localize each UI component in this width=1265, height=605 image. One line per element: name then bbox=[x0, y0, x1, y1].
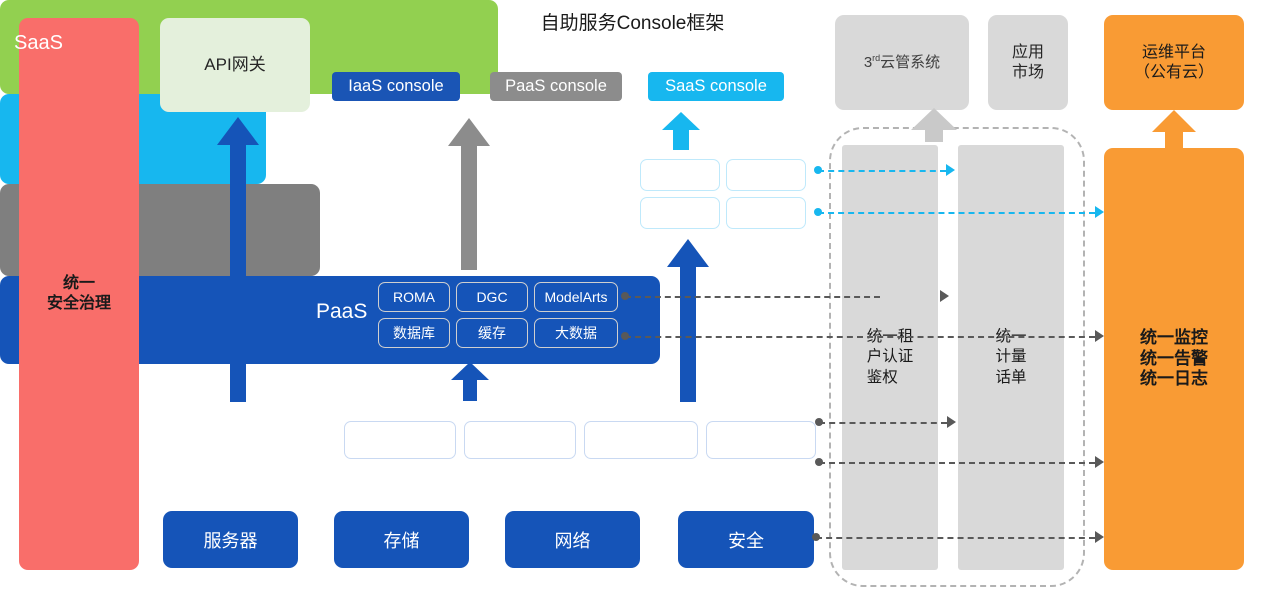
app-market-label: 应用 市场 bbox=[1012, 43, 1044, 82]
saas-service-iot-label: IoT bbox=[755, 166, 777, 184]
arrow-ops-column-to-platform bbox=[1152, 110, 1196, 149]
paas-service-roma[interactable]: ROMA bbox=[378, 282, 450, 312]
paas-service-modelarts-label: ModelArts bbox=[544, 289, 607, 305]
dashed-resources-to-ops bbox=[816, 537, 1095, 539]
arrowhead-paas-to-auth bbox=[940, 290, 949, 302]
paas-service-dgc-label: DGC bbox=[476, 289, 507, 305]
ops-platform-box: 运维平台 （公有云） bbox=[1104, 15, 1244, 110]
arrow-saas-to-console bbox=[662, 112, 700, 150]
resource-server-label: 服务器 bbox=[204, 527, 258, 553]
resource-box-network[interactable]: 网络 bbox=[505, 511, 640, 568]
ops-monitoring-column: 统一监控 统一告警 统一日志 bbox=[1104, 148, 1244, 570]
saas-service-desktop-cloud[interactable]: 桌面云 bbox=[726, 197, 806, 229]
iaas-service-network[interactable]: Network bbox=[584, 421, 698, 459]
paas-service-roma-label: ROMA bbox=[393, 289, 435, 305]
paas-console-label: PaaS console bbox=[505, 77, 607, 96]
arrowhead-paas-to-ops bbox=[1095, 330, 1104, 342]
unified-tenant-auth-column: 统一租 户认证 鉴权 bbox=[842, 145, 938, 570]
iaas-service-cce-label: CCE bbox=[742, 430, 780, 451]
saas-service-video-cloud[interactable]: 视频云 bbox=[640, 197, 720, 229]
saas-console-pill[interactable]: SaaS console bbox=[648, 72, 784, 101]
iaas-service-compute-label: Compute bbox=[363, 430, 436, 451]
dashed-saas-to-auth bbox=[818, 170, 946, 172]
resource-box-security[interactable]: 安全 bbox=[678, 511, 814, 568]
iaas-service-storage[interactable]: Storage bbox=[464, 421, 576, 459]
security-governance-column: 统一 安全治理 bbox=[19, 18, 139, 570]
arrowhead-saas-to-auth bbox=[946, 164, 955, 176]
saas-service-video-cloud-label: 视频云 bbox=[657, 202, 704, 224]
iaas-service-network-label: Network bbox=[608, 430, 674, 451]
security-governance-label: 统一 安全治理 bbox=[47, 274, 111, 313]
paas-console-pill[interactable]: PaaS console bbox=[490, 72, 622, 101]
arrow-iaas-to-saas bbox=[667, 239, 709, 402]
saas-service-iot[interactable]: IoT bbox=[726, 159, 806, 191]
resource-storage-label: 存储 bbox=[384, 527, 420, 553]
architecture-diagram: 统一 安全治理 API网关 自助服务Console框架 IaaS console… bbox=[0, 0, 1265, 605]
paas-service-bigdata-label: 大数据 bbox=[555, 323, 597, 343]
paas-service-modelarts[interactable]: ModelArts bbox=[534, 282, 618, 312]
saas-service-desktop-cloud-label: 桌面云 bbox=[743, 202, 790, 224]
saas-service-blockchain-label: 区块链 bbox=[657, 164, 704, 186]
paas-service-database-label: 数据库 bbox=[393, 323, 435, 343]
resource-network-label: 网络 bbox=[555, 527, 591, 553]
third-party-cloud-mgmt-label: 3rd云管系统 bbox=[864, 53, 940, 72]
iaas-service-storage-label: Storage bbox=[488, 430, 551, 451]
dashed-iaas-to-ops bbox=[819, 462, 1095, 464]
iaas-service-compute[interactable]: Compute bbox=[344, 421, 456, 459]
paas-service-bigdata[interactable]: 大数据 bbox=[534, 318, 618, 348]
ops-monitoring-label: 统一监控 统一告警 统一日志 bbox=[1140, 328, 1208, 390]
ops-platform-label: 运维平台 （公有云） bbox=[1134, 43, 1214, 82]
arrow-iaas-to-paas bbox=[451, 362, 489, 401]
arrowhead-iaas-to-auth bbox=[947, 416, 956, 428]
dashed-paas-to-auth bbox=[625, 296, 880, 298]
arrowhead-saas-to-ops bbox=[1095, 206, 1104, 218]
paas-service-cache-label: 缓存 bbox=[478, 323, 506, 343]
console-framework-title: 自助服务Console框架 bbox=[0, 8, 1265, 35]
paas-service-dgc[interactable]: DGC bbox=[456, 282, 528, 312]
saas-layer-title: SaaS bbox=[14, 32, 63, 55]
unified-infrastructure-title: 统一基础设施服务 bbox=[172, 427, 324, 454]
iaas-service-cce[interactable]: CCE bbox=[706, 421, 816, 459]
api-gateway-label: API网关 bbox=[204, 55, 265, 76]
saas-service-blockchain[interactable]: 区块链 bbox=[640, 159, 720, 191]
iaas-console-pill[interactable]: IaaS console bbox=[332, 72, 460, 101]
paas-service-database[interactable]: 数据库 bbox=[378, 318, 450, 348]
app-market-box: 应用 市场 bbox=[988, 15, 1068, 110]
arrowhead-iaas-to-ops bbox=[1095, 456, 1104, 468]
third-party-cloud-mgmt-box: 3rd云管系统 bbox=[835, 15, 969, 110]
iaas-console-label: IaaS console bbox=[348, 77, 443, 96]
saas-console-label: SaaS console bbox=[665, 77, 767, 96]
arrowhead-resources-to-ops bbox=[1095, 531, 1104, 543]
resource-box-server[interactable]: 服务器 bbox=[163, 511, 298, 568]
unified-metering-column: 统一 计量 话单 bbox=[958, 145, 1064, 570]
resource-box-storage[interactable]: 存储 bbox=[334, 511, 469, 568]
dashed-iaas-to-auth bbox=[819, 422, 947, 424]
dashed-saas-to-ops bbox=[818, 212, 1095, 214]
dashed-paas-to-ops bbox=[625, 336, 1095, 338]
paas-service-cache[interactable]: 缓存 bbox=[456, 318, 528, 348]
arrow-paas-to-console bbox=[448, 118, 490, 270]
resource-security-label: 安全 bbox=[728, 527, 764, 553]
paas-layer-title: PaaS bbox=[316, 300, 367, 324]
